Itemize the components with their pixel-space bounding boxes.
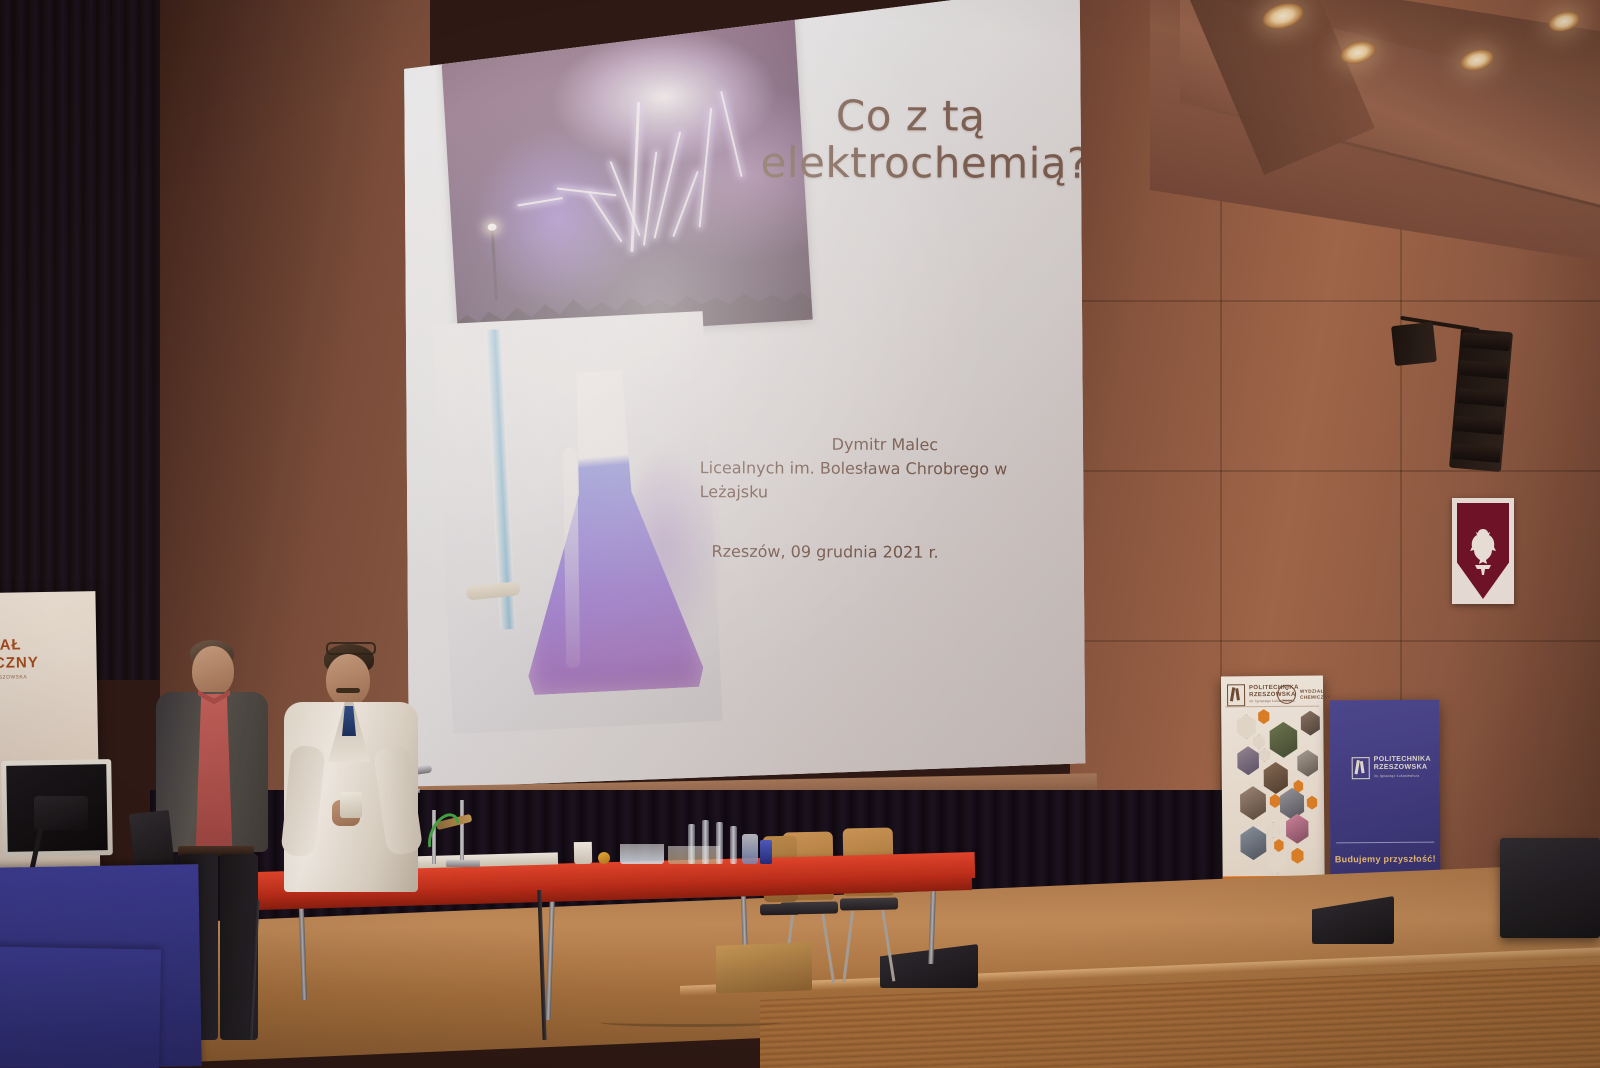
prz-logo-banner-right: POLITECHNIKA RZESZOWSKA im. Ignacego Łuk…	[1352, 756, 1440, 781]
banner-left-line1: WYDZIAŁ	[0, 636, 22, 654]
presenter-moustache	[336, 688, 360, 693]
stage-chair	[839, 828, 900, 979]
blue-bottle	[760, 840, 772, 864]
volumetric-flask	[688, 824, 695, 864]
av-case	[1500, 838, 1600, 938]
prz-logo-name: POLITECHNIKA RZESZOWSKA	[1374, 756, 1431, 771]
host-head	[192, 646, 234, 696]
plastic-cup	[574, 842, 592, 864]
presenter-head	[326, 654, 370, 706]
banner-right-tagline-strip: Budujemy przyszłość!	[1330, 850, 1440, 869]
photo-scene: Co z tą elektrochemią? Dymitr Malec Lice…	[0, 0, 1600, 1068]
retort-stand-rod	[460, 800, 464, 864]
wooden-riser-box	[716, 942, 812, 993]
av-desk-cloth-lower	[0, 946, 161, 1068]
person-presenter	[280, 646, 420, 896]
presenter-glasses-on-head-icon	[326, 642, 376, 655]
eagle-shield	[1457, 503, 1509, 599]
prz-logo-subtitle: im. Ignacego Łukasiewicza	[1374, 774, 1420, 778]
reagent-bottle	[742, 834, 758, 864]
camera-on-tripod	[34, 796, 88, 830]
prz-mark-icon	[1352, 757, 1370, 779]
banner-right-tagline: Budujemy przyszłość!	[1335, 854, 1436, 865]
polish-emblem-plaque	[1452, 498, 1514, 604]
retort-stand-base	[446, 860, 480, 867]
cable-on-floor	[600, 1018, 780, 1027]
banner-left-line3: POLITECHNIKA RZESZOWSKA	[0, 674, 27, 681]
banner-left-line2: CHEMICZNY	[0, 654, 39, 673]
prz-logo-text: POLITECHNIKA RZESZOWSKA im. Ignacego Łuk…	[1374, 756, 1440, 781]
monitor-speaker-wall	[1391, 322, 1437, 366]
volumetric-flask	[702, 820, 709, 864]
projection-screen: Co z tą elektrochemią? Dymitr Malec Lice…	[398, 0, 1088, 794]
volumetric-flask	[730, 826, 737, 864]
yellow-sample	[598, 852, 610, 864]
demo-object-in-hand	[340, 792, 362, 818]
white-eagle-icon	[1468, 525, 1498, 577]
volumetric-flask	[716, 822, 723, 864]
crystallizing-dish	[620, 844, 664, 864]
